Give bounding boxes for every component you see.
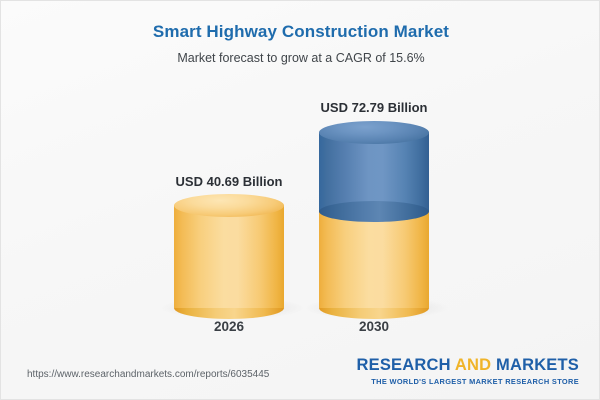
- bar-category-label-2030: 2030: [264, 319, 484, 334]
- logo-wordmark: RESEARCH AND MARKETS: [357, 356, 580, 375]
- bar-value-label-2026: USD 40.69 Billion: [119, 174, 339, 189]
- chart-plot-area: USD 40.69 Billion 2026 USD 72.79 Billion…: [1, 1, 600, 346]
- market-forecast-chart-card: Smart Highway Construction Market Market…: [0, 0, 600, 400]
- logo-word-research: RESEARCH: [357, 356, 455, 374]
- bar-segment-seam-2030: [319, 201, 429, 222]
- research-and-markets-logo[interactable]: RESEARCH AND MARKETS THE WORLD'S LARGEST…: [357, 356, 580, 386]
- report-url[interactable]: https://www.researchandmarkets.com/repor…: [27, 369, 269, 380]
- bar-top-cap-2030: [319, 121, 429, 144]
- chart-footer: https://www.researchandmarkets.com/repor…: [1, 344, 600, 399]
- bar-body-upper-2030: [319, 132, 429, 212]
- bar-body-2026: [174, 205, 284, 308]
- logo-word-and: AND: [455, 356, 496, 374]
- bar-top-cap-2026: [174, 194, 284, 217]
- logo-tagline: THE WORLD'S LARGEST MARKET RESEARCH STOR…: [357, 377, 580, 386]
- logo-word-markets: MARKETS: [496, 356, 579, 374]
- bar-value-label-2030: USD 72.79 Billion: [264, 100, 484, 115]
